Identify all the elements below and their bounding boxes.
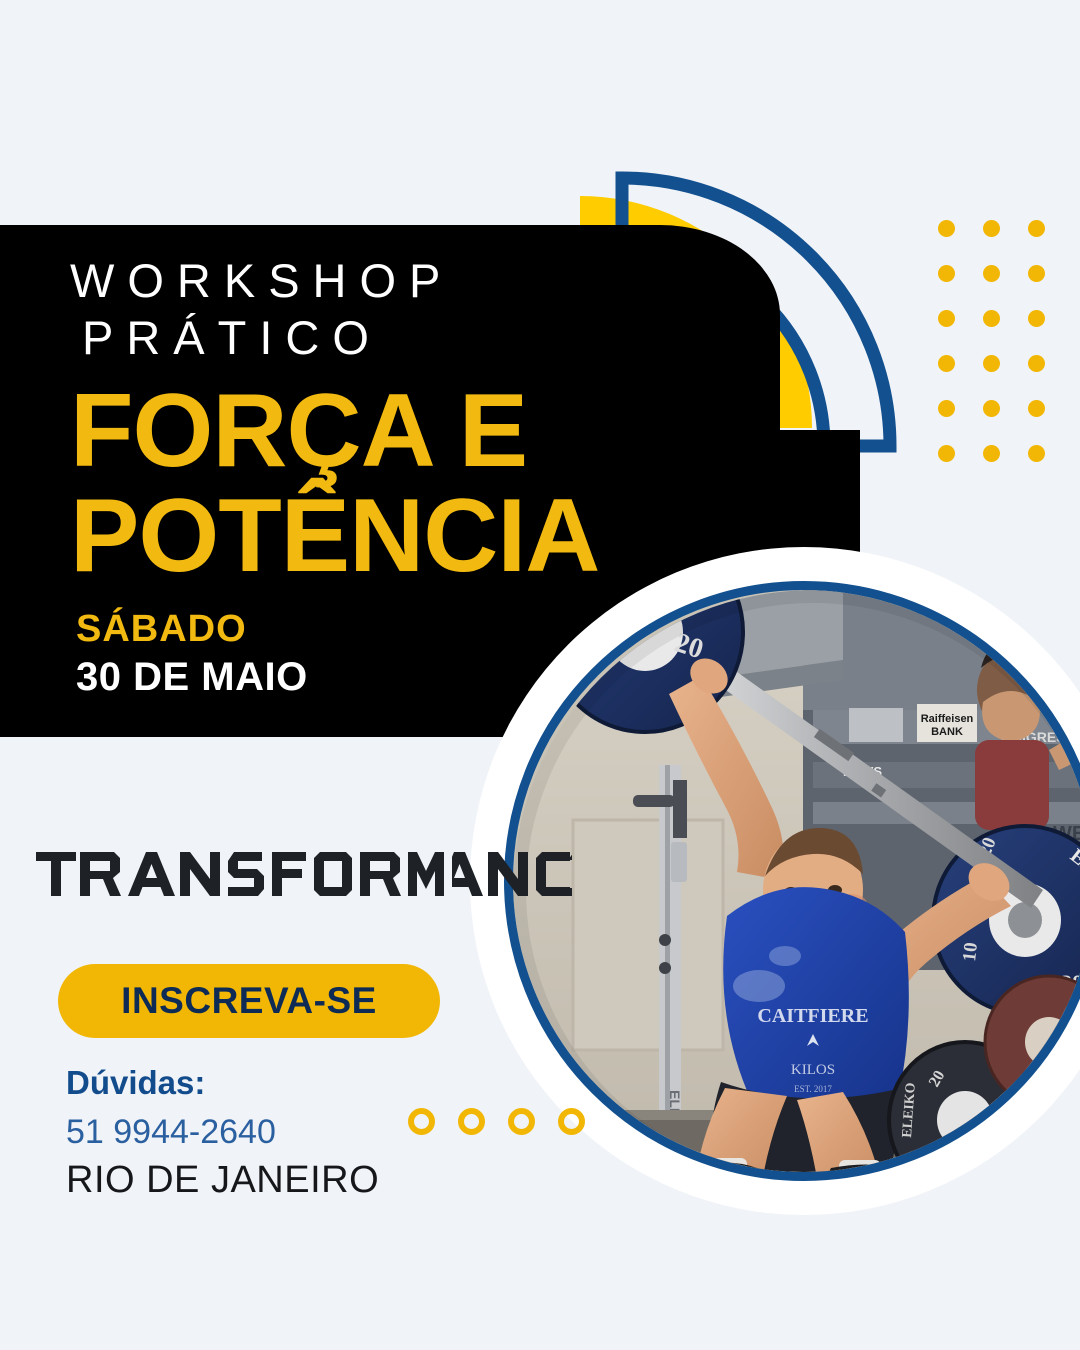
svg-text:CAITFIERE: CAITFIERE [757,1005,868,1027]
ring-dot [458,1108,485,1135]
dot-grid-row [938,400,1073,445]
svg-text:KILOS: KILOS [791,1062,835,1078]
grid-dot [1028,310,1045,327]
poster-root: WORKSHOP PRÁTICO FORÇA E POTÊNCIA SÁBADO… [0,0,1080,1350]
ring-dots-decoration [408,1108,608,1140]
dot-grid-row [938,265,1073,310]
grid-dot [1028,355,1045,372]
svg-text:EST. 2017: EST. 2017 [794,1084,832,1094]
contact-block: Dúvidas: 51 9944-2640 RIO DE JANEIRO [66,1062,379,1205]
event-weekday: SÁBADO [76,610,690,650]
kicker-line-2: PRÁTICO [82,312,690,365]
svg-text:BANK: BANK [931,726,963,738]
dot-grid-row [938,445,1073,490]
dot-grid-decoration [938,220,1073,490]
contact-city: RIO DE JANEIRO [66,1157,379,1205]
svg-text:10: 10 [959,941,982,962]
kicker-line-1: WORKSHOP [70,255,690,308]
grid-dot [983,400,1000,417]
contact-phone[interactable]: 51 9944-2640 [66,1111,379,1154]
grid-dot [938,265,955,282]
dot-grid-row [938,355,1073,400]
grid-dot [938,220,955,237]
logo-wordmark [36,852,401,896]
title-line-1: FORÇA E [70,380,690,483]
svg-text:Raiffeisen: Raiffeisen [921,713,974,725]
grid-dot [938,400,955,417]
register-button[interactable]: INSCREVA-SE [58,964,440,1038]
grid-dot [983,310,1000,327]
headline-block: WORKSHOP PRÁTICO FORÇA E POTÊNCIA SÁBADO… [70,255,690,698]
ring-dot [558,1108,585,1135]
grid-dot [938,355,955,372]
grid-dot [983,355,1000,372]
grid-dot [983,265,1000,282]
event-date: 30 DE MAIO [76,656,690,698]
dot-grid-row [938,220,1073,265]
dot-grid-row [938,310,1073,355]
grid-dot [1028,400,1045,417]
contact-label: Dúvidas: [66,1062,379,1105]
grid-dot [938,445,955,462]
brand-logo: TRANSFORMANCE [34,846,572,907]
grid-dot [1028,445,1045,462]
title-line-2: POTÊNCIA [70,485,690,588]
grid-dot [1028,265,1045,282]
ring-dot [508,1108,535,1135]
grid-dot [938,310,955,327]
grid-dot [1028,220,1045,237]
ring-dot [408,1108,435,1135]
grid-dot [983,220,1000,237]
grid-dot [983,445,1000,462]
